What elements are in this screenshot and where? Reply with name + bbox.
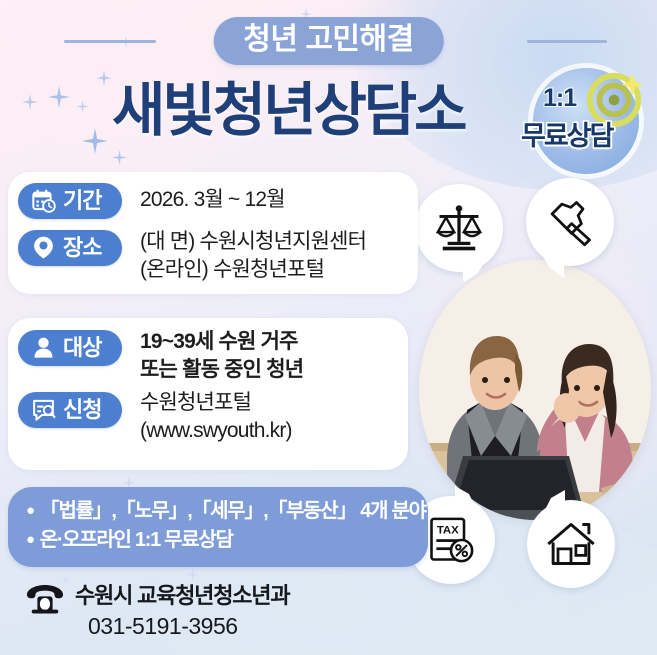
location-pill: 장소 — [18, 230, 122, 266]
counselling-scene-image — [419, 260, 651, 520]
bubble-tail — [542, 255, 564, 278]
telephone-icon — [26, 584, 64, 614]
sparkle-icon — [186, 568, 199, 581]
telephone-number: 031-5191-3956 — [88, 610, 289, 642]
application-value-line-portal: 수원청년포털 — [140, 389, 292, 417]
location-pill-label: 장소 — [63, 235, 101, 260]
eligibility-value-line-age: 19~39세 수원 거주 — [140, 328, 303, 356]
contact-text-group: 수원시 교육청년청소년과 031-5191-3956 — [75, 582, 289, 642]
tax-document-icon: TAX — [425, 514, 477, 566]
department-name: 수원시 교육청년청소년과 — [75, 583, 289, 608]
header-rule-left — [64, 40, 156, 43]
highlight-item: ● 온·오프라인 1:1 무료상담 — [26, 526, 410, 555]
info-card-eligibility-application: 대상 19~39세 수원 거주 또는 활동 중인 청년 신청 — [8, 318, 408, 470]
location-value: (대 면) 수원시청년지원센터 (온라인) 수원청년포털 — [140, 228, 366, 285]
info-row-eligibility: 대상 19~39세 수원 거주 또는 활동 중인 청년 — [18, 330, 303, 385]
period-pill-label: 기간 — [63, 188, 101, 213]
info-row-period: 기간 2026. 3월 ~ 12월 — [18, 183, 285, 219]
topic-bubble-labor — [526, 178, 614, 266]
calendar-clock-icon — [31, 188, 56, 213]
sparkle-icon — [22, 94, 38, 110]
contact-footer: 수원시 교육청년청소년과 031-5191-3956 — [26, 582, 289, 642]
poster-canvas: 청년 고민해결 새빛청년상담소 1:1 무료상담 — [0, 0, 657, 655]
info-card-schedule-location: 기간 2026. 3월 ~ 12월 장소 (대 면) 수원시청년지원센터 (온라… — [8, 172, 418, 294]
bubble-tail — [545, 490, 565, 510]
header-rule-right — [527, 40, 607, 43]
highlight-text: 온·오프라인 1:1 무료상담 — [40, 526, 233, 555]
sparkle-icon — [96, 70, 112, 86]
sparkle-icon — [76, 100, 89, 113]
hammer-icon — [544, 196, 596, 248]
scales-of-justice-icon — [433, 202, 485, 254]
bubble-tail — [455, 486, 475, 506]
page-title: 새빛청년상담소 — [112, 82, 465, 140]
person-icon — [31, 335, 56, 360]
house-icon — [545, 518, 597, 570]
period-pill: 기간 — [18, 183, 122, 219]
svg-text:TAX: TAX — [437, 525, 459, 537]
highlights-box: ● 「법률」,「노무」,「세무」,「부동산」 4개 분야 ● 온·오프라인 1:… — [8, 487, 428, 567]
info-row-application: 신청 수원청년포털 (www.swyouth.kr) — [18, 392, 292, 446]
bubble-tail — [463, 261, 485, 283]
application-pill: 신청 — [18, 392, 122, 428]
sparkle-icon — [48, 86, 70, 108]
application-value-line-url: (www.swyouth.kr) — [140, 417, 292, 445]
eligibility-pill-label: 대상 — [63, 335, 101, 360]
location-value-line-online: (온라인) 수원청년포털 — [140, 256, 366, 284]
search-document-icon — [31, 397, 56, 422]
bullet-marker: ● — [26, 503, 34, 518]
eligibility-value-line-activity: 또는 활동 중인 청년 — [140, 356, 303, 384]
period-value-line: 2026. 3월 ~ 12월 — [140, 186, 285, 214]
topic-bubble-real-estate — [527, 500, 615, 588]
topic-bubble-law — [415, 184, 503, 272]
application-value: 수원청년포털 (www.swyouth.kr) — [140, 389, 292, 446]
free-badge-ratio: 1:1 — [543, 84, 576, 113]
highlight-item: ● 「법률」,「노무」,「세무」,「부동산」 4개 분야 — [26, 497, 410, 526]
sparkle-icon — [82, 128, 108, 154]
application-pill-label: 신청 — [63, 397, 101, 422]
eligibility-value: 19~39세 수원 거주 또는 활동 중인 청년 — [140, 328, 303, 385]
illustration-group: TAX — [401, 178, 657, 578]
sparkle-icon — [112, 150, 127, 165]
highlight-text: 「법률」,「노무」,「세무」,「부동산」 4개 분야 — [40, 497, 426, 526]
free-badge-label: 무료상담 — [521, 114, 612, 153]
period-value: 2026. 3월 ~ 12월 — [140, 186, 285, 214]
eligibility-pill: 대상 — [18, 330, 122, 366]
map-pin-icon — [31, 235, 56, 260]
free-consultation-badge: 1:1 무료상담 — [519, 62, 651, 170]
header-badge: 청년 고민해결 — [213, 17, 443, 65]
bullet-marker: ● — [26, 532, 34, 547]
location-value-line-offline: (대 면) 수원시청년지원센터 — [140, 228, 366, 256]
info-row-location: 장소 (대 면) 수원시청년지원센터 (온라인) 수원청년포털 — [18, 230, 366, 285]
